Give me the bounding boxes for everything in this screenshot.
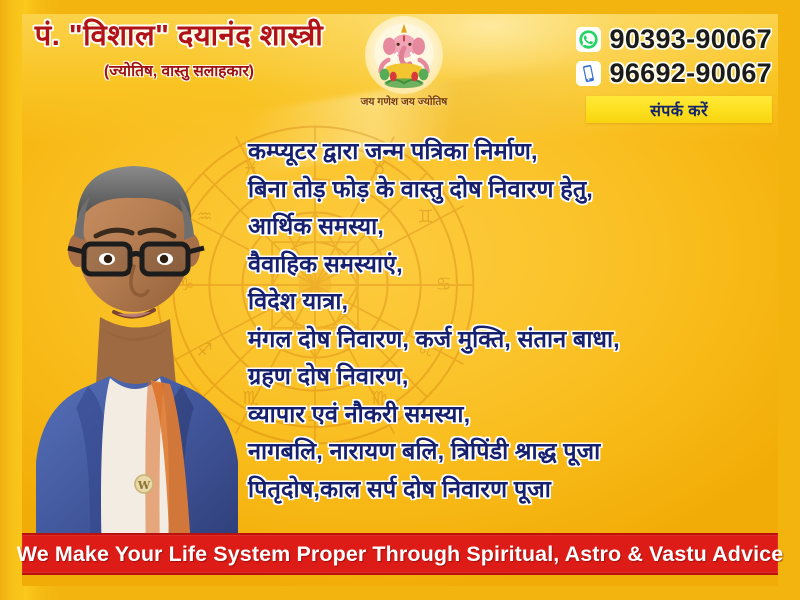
astrologer-name: पं. "विशाल" दयानंद शास्त्री — [14, 20, 344, 52]
service-item: वैवाहिक समस्याएं, — [248, 253, 788, 277]
service-item: कम्प्यूटर द्वारा जन्म पत्रिका निर्माण, — [248, 140, 788, 164]
advertisement-poster: ♈ ♉ ♊ ♋ ♌ ♍ ♎ ♏ ♐ ♑ ♒ ♓ पं. "विशाल" दयान… — [0, 0, 800, 600]
header-title-block: पं. "विशाल" दयानंद शास्त्री (ज्योतिष, वा… — [14, 20, 344, 81]
contact-us-badge[interactable]: संपर्क करें — [586, 96, 772, 123]
mobile-number: 96692-90067 — [610, 58, 772, 89]
ganesh-icon — [365, 16, 443, 94]
svg-text:W: W — [137, 479, 151, 492]
whatsapp-number: 90393-90067 — [610, 24, 772, 55]
service-item: बिना तोड़ फोड़ के वास्तु दोष निवारण हेतु… — [248, 178, 788, 202]
phone-row-mobile[interactable]: 96692-90067 — [576, 58, 772, 89]
service-item: पितृदोष,काल सर्प दोष निवारण पूजा — [248, 478, 788, 502]
services-list: कम्प्यूटर द्वारा जन्म पत्रिका निर्माण, ब… — [248, 140, 788, 501]
astrologer-qualification: (ज्योतिष, वास्तु सलाहकार) — [14, 59, 344, 81]
tagline-text: We Make Your Life System Proper Through … — [17, 542, 784, 567]
service-item: मंगल दोष निवारण, कर्ज मुक्ति, संतान बाधा… — [248, 328, 788, 352]
phone-row-whatsapp[interactable]: 90393-90067 — [576, 24, 772, 55]
ganesh-logo-block: जय गणेश जय ज्योतिष — [352, 16, 456, 109]
logo-caption: जय गणेश जय ज्योतिष — [352, 95, 456, 109]
astrologer-portrait: W — [22, 132, 248, 564]
tagline-banner: We Make Your Life System Proper Through … — [22, 533, 778, 575]
service-item: विदेश यात्रा, — [248, 290, 788, 314]
mobile-phone-icon — [576, 61, 601, 86]
service-item: नागबलि, नारायण बलि, त्रिपिंडी श्राद्ध पू… — [248, 440, 788, 464]
contact-us-label: संपर्क करें — [650, 99, 708, 121]
service-item: आर्थिक समस्या, — [248, 215, 788, 239]
service-item: ग्रहण दोष निवारण, — [248, 365, 788, 389]
whatsapp-icon — [576, 27, 601, 52]
contact-block: 90393-90067 96692-90067 संपर्क करें — [576, 24, 772, 123]
service-item: व्यापार एवं नौकरी समस्या, — [248, 403, 788, 427]
